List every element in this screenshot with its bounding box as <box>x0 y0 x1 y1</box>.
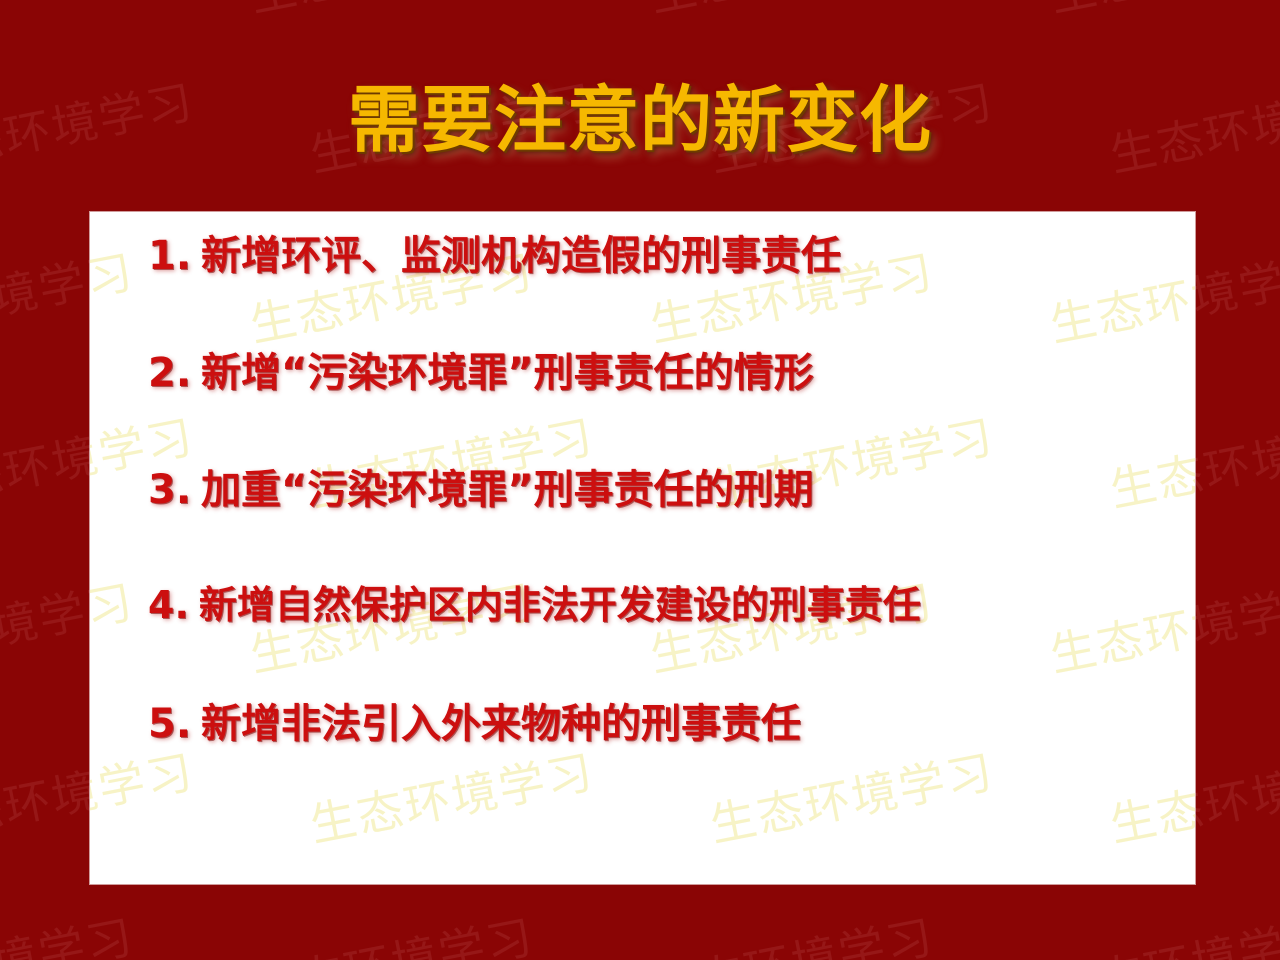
list-item-label: 加重“污染环境罪”刑事责任的刑期 <box>201 468 814 512</box>
list-item-number: 5. <box>148 702 191 746</box>
list-item[interactable]: 1. 新增环评、监测机构造假的刑事责任 <box>148 234 1188 278</box>
list-item-label: 新增自然保护区内非法开发建设的刑事责任 <box>199 585 921 627</box>
list-item-number: 2. <box>148 351 191 395</box>
watermark-text: 生态环境学习 <box>244 901 539 960</box>
watermark-text: 生态环境学习 <box>1044 901 1280 960</box>
watermark-text: 生态环境学习 <box>0 0 139 25</box>
watermark-text: 生态环境学习 <box>0 901 139 960</box>
list-item-number: 4. <box>148 585 189 627</box>
watermark-text: 生态环境学习 <box>644 901 939 960</box>
list-item-label: 新增非法引入外来物种的刑事责任 <box>201 702 801 746</box>
list-item[interactable]: 4. 新增自然保护区内非法开发建设的刑事责任 <box>148 585 1188 627</box>
list-item-number: 1. <box>148 234 191 278</box>
list-item[interactable]: 5. 新增非法引入外来物种的刑事责任 <box>148 702 1188 746</box>
slide-root: 生态环境学习生态环境学习生态环境学习生态环境学习生态环境学习生态环境学习生态环境… <box>0 0 1280 960</box>
list-item-number: 3. <box>148 468 191 512</box>
watermark-text: 生态环境学习 <box>1044 0 1280 25</box>
watermark-text: 生态环境学习 <box>644 0 939 25</box>
list-item[interactable]: 2. 新增“污染环境罪”刑事责任的情形 <box>148 351 1188 395</box>
list-item[interactable]: 3. 加重“污染环境罪”刑事责任的刑期 <box>148 468 1188 512</box>
watermark-text: 生态环境学习 <box>244 0 539 25</box>
list-item-label: 新增环评、监测机构造假的刑事责任 <box>201 234 841 278</box>
slide-title-container: 需要注意的新变化 <box>0 84 1280 156</box>
content-panel <box>90 212 1195 884</box>
list-item-label: 新增“污染环境罪”刑事责任的情形 <box>201 351 814 395</box>
page-title: 需要注意的新变化 <box>348 84 932 156</box>
